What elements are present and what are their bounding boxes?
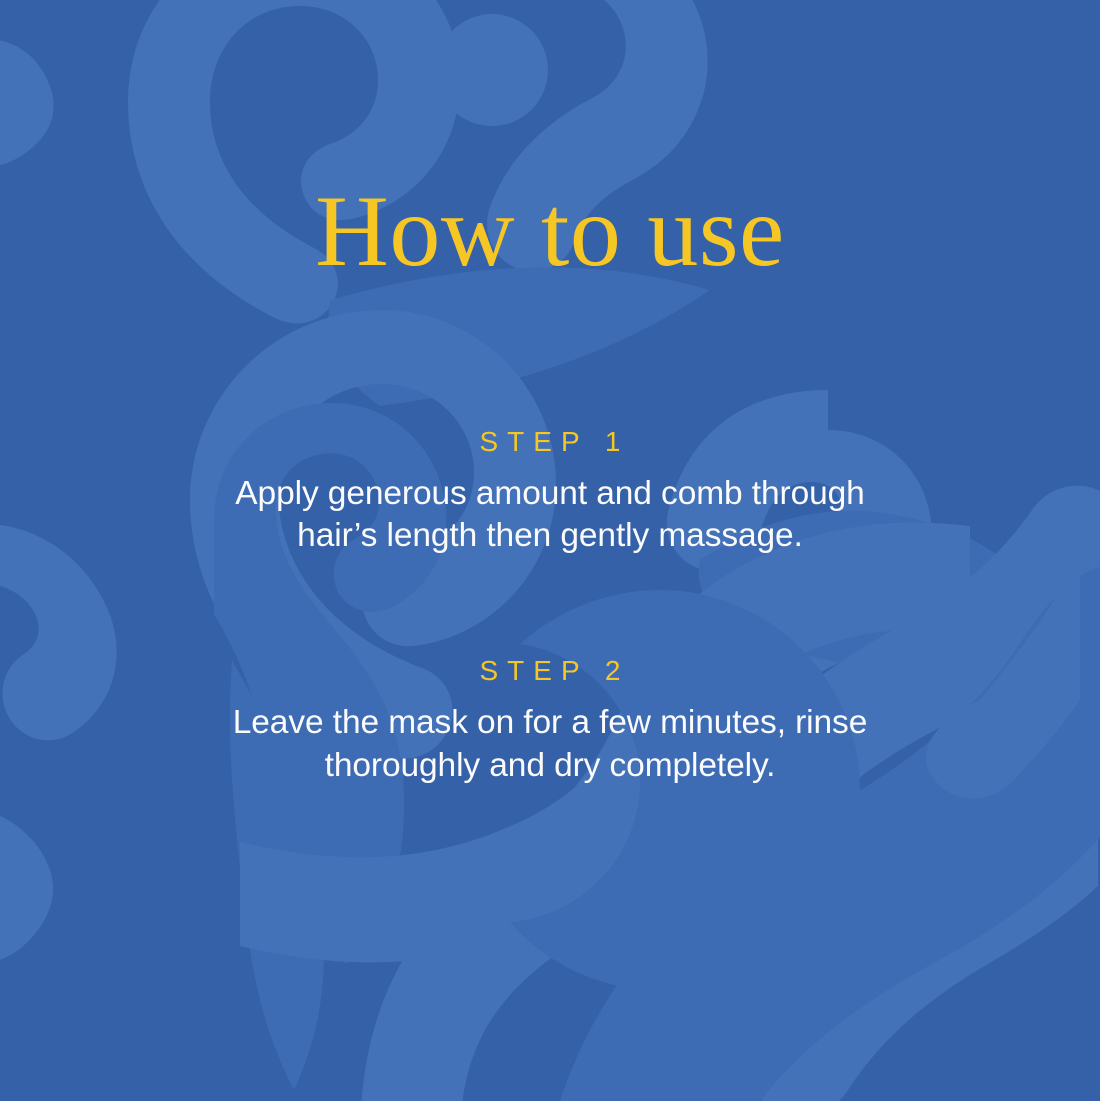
step-2-line-1: Leave the mask on for a few minutes, rin… — [233, 704, 867, 741]
step-1-line-1: Apply generous amount and comb through — [235, 475, 864, 512]
step-1-label: STEP 1 — [0, 425, 1100, 459]
step-2-description: Leave the mask on for a few minutes, rin… — [200, 702, 900, 788]
step-item-2: STEP 2 Leave the mask on for a few minut… — [0, 654, 1100, 787]
step-item-1: STEP 1 Apply generous amount and comb th… — [0, 425, 1100, 558]
step-2-line-2: thoroughly and dry completely. — [325, 747, 776, 784]
step-2-label: STEP 2 — [0, 654, 1100, 688]
content-area: How to use STEP 1 Apply generous amount … — [0, 0, 1100, 1101]
step-1-line-2: hair’s length then gently massage. — [297, 517, 803, 554]
page-title: How to use — [0, 181, 1100, 283]
step-1-description: Apply generous amount and comb through h… — [200, 473, 900, 559]
steps-list: STEP 1 Apply generous amount and comb th… — [0, 425, 1100, 788]
how-to-use-card: How to use STEP 1 Apply generous amount … — [0, 0, 1100, 1101]
